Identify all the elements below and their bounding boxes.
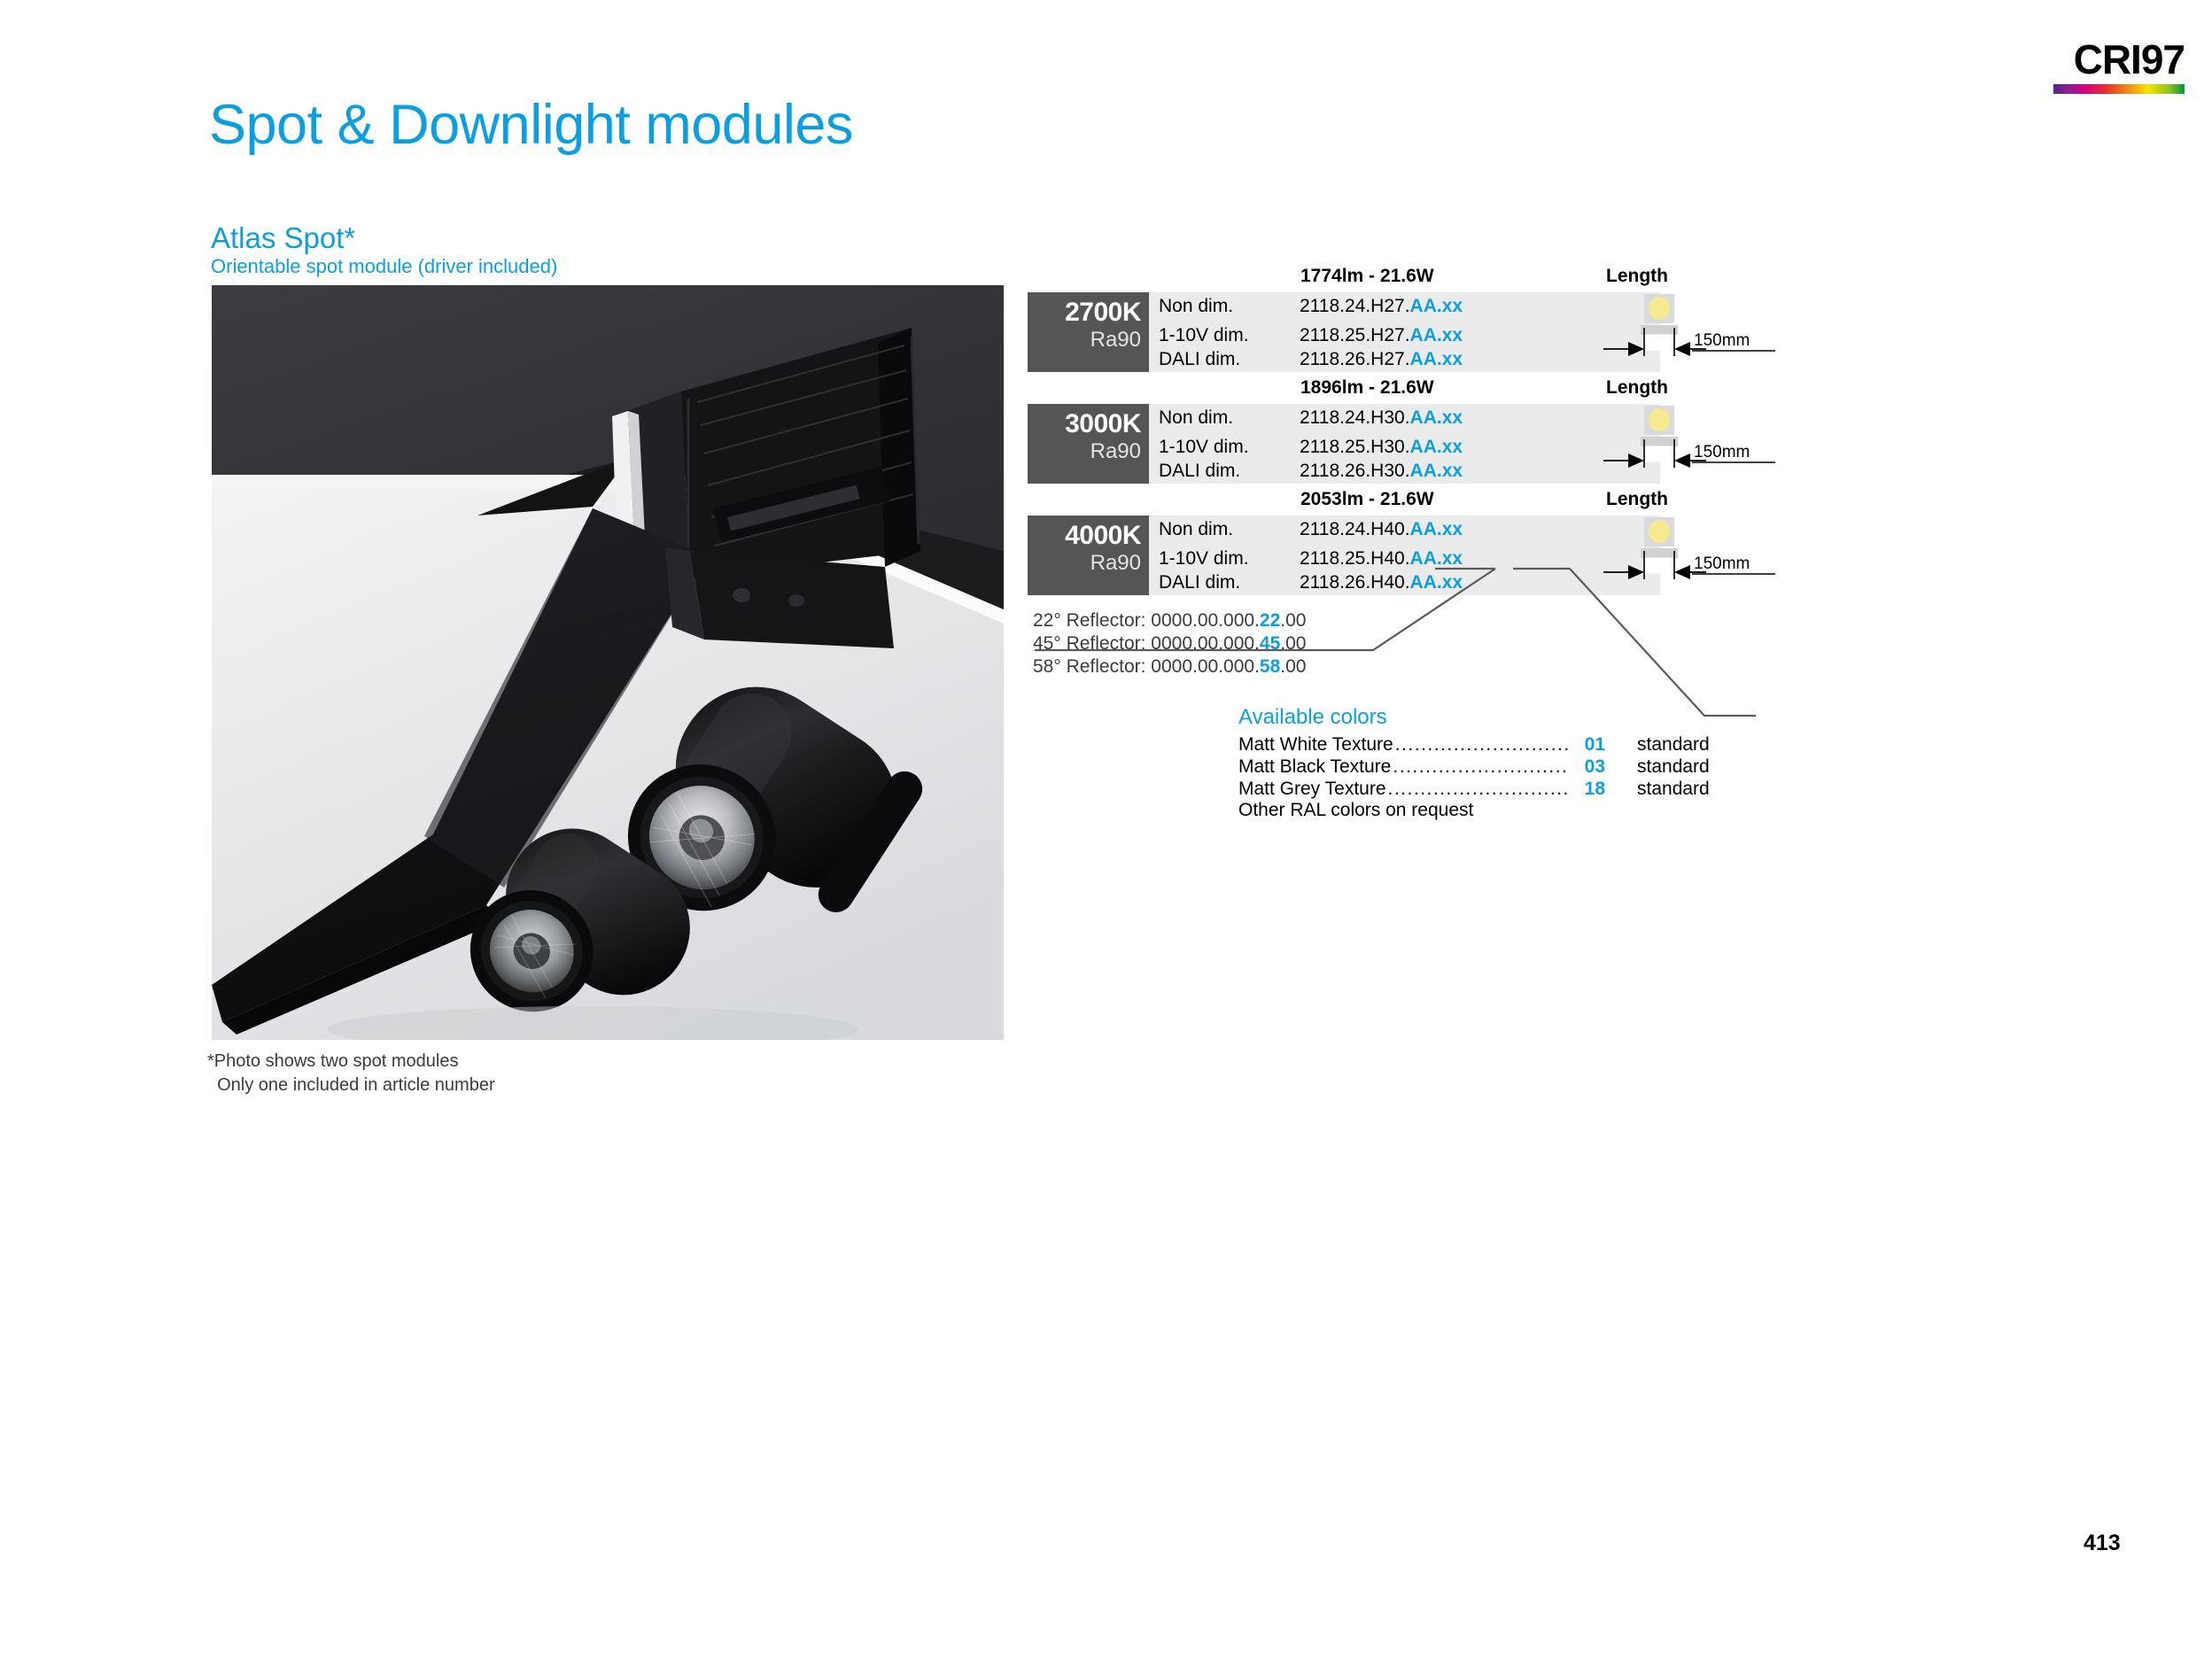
dimming-type: 1-10V dim. — [1159, 323, 1249, 347]
page-number: 413 — [2084, 1531, 2121, 1556]
article-base: 2118.25.H40. — [1300, 548, 1410, 569]
cri-ra-value: Ra90 — [1028, 439, 1141, 464]
article-number: 2118.25.H40.AA.xx — [1300, 547, 1463, 570]
length-value: 150mm — [1694, 331, 1750, 350]
article-base: 2118.24.H30. — [1300, 407, 1410, 428]
reflector-label: 22° Reflector: 0000.00.000. — [1033, 610, 1260, 631]
dimming-type: 1-10V dim. — [1159, 547, 1249, 570]
spec-block-3000k: 1896lm - 21.6W Length 3000K Ra90 Non dim… — [1028, 377, 2011, 484]
article-number: 2118.25.H30.AA.xx — [1300, 435, 1463, 459]
color-code: 03 — [1572, 756, 1605, 778]
table-row[interactable]: DALI dim. 2118.26.H27.AA.xx — [1149, 347, 1660, 371]
article-rows: Non dim. 2118.24.H27.AA.xx 1-10V dim. 21… — [1149, 292, 1660, 372]
spec-header: 1774lm - 21.6W Length — [1028, 266, 2011, 292]
cct-badge: 3000K Ra90 — [1028, 404, 1149, 484]
available-colors-title: Available colors — [1238, 705, 1387, 730]
section-subtitle: Orientable spot module (driver included) — [211, 255, 557, 278]
reflector-tail: .00 — [1280, 656, 1306, 677]
reflector-label: 58° Reflector: 0000.00.000. — [1033, 656, 1260, 677]
cri97-label: CRI97 — [2053, 39, 2185, 80]
table-row[interactable]: DALI dim. 2118.26.H40.AA.xx — [1149, 570, 1660, 594]
length-diagram: 150mm — [1602, 289, 1779, 374]
reflector-tail: .00 — [1280, 633, 1306, 654]
article-base: 2118.24.H40. — [1300, 519, 1410, 539]
color-name: Matt Grey Texture — [1238, 778, 1386, 800]
article-base: 2118.25.H27. — [1300, 325, 1410, 345]
product-photo — [212, 285, 1004, 1040]
color-status: standard — [1605, 756, 1735, 778]
article-variable-suffix: AA.xx — [1410, 572, 1463, 593]
article-number: 2118.24.H27.AA.xx — [1300, 292, 1463, 320]
lumens-wattage: 2053lm - 21.6W — [1300, 489, 1434, 510]
article-number: 2118.26.H30.AA.xx — [1300, 459, 1463, 483]
table-row[interactable]: 1-10V dim. 2118.25.H27.AA.xx — [1149, 323, 1660, 347]
table-row[interactable]: Non dim. 2118.24.H27.AA.xx — [1149, 292, 1660, 323]
length-header: Length — [1606, 489, 1668, 510]
cct-badge: 4000K Ra90 — [1028, 516, 1149, 595]
color-code: 01 — [1572, 733, 1605, 756]
length-diagram: 150mm — [1602, 512, 1779, 597]
color-name: Matt Black Texture — [1238, 756, 1391, 778]
article-number: 2118.24.H30.AA.xx — [1300, 404, 1463, 431]
color-code: 18 — [1572, 778, 1605, 800]
article-variable-suffix: AA.xx — [1410, 349, 1463, 369]
cri97-badge: CRI97 — [2053, 39, 2185, 94]
list-item[interactable]: Matt Black Texture .....................… — [1238, 756, 1735, 778]
article-variable-suffix: AA.xx — [1410, 519, 1463, 539]
dimming-type: DALI dim. — [1159, 459, 1240, 483]
article-base: 2118.24.H27. — [1300, 296, 1410, 316]
article-number: 2118.24.H40.AA.xx — [1300, 516, 1463, 543]
reflector-code: 45 — [1260, 633, 1280, 654]
article-base: 2118.26.H27. — [1300, 349, 1410, 369]
color-name: Matt White Texture — [1238, 733, 1393, 756]
dimming-type: DALI dim. — [1159, 570, 1240, 594]
spec-header: 1896lm - 21.6W Length — [1028, 377, 2011, 404]
article-variable-suffix: AA.xx — [1410, 407, 1463, 428]
dimming-type: Non dim. — [1159, 404, 1233, 431]
length-header: Length — [1606, 377, 1668, 399]
cct-badge: 2700K Ra90 — [1028, 292, 1149, 372]
reflector-code: 22 — [1260, 610, 1280, 631]
cct-value: 2700K — [1028, 298, 1141, 328]
table-row[interactable]: 1-10V dim. 2118.25.H40.AA.xx — [1149, 547, 1660, 570]
cri-ra-value: Ra90 — [1028, 551, 1141, 576]
dimming-type: 1-10V dim. — [1159, 435, 1249, 459]
spec-body: 3000K Ra90 Non dim. 2118.24.H30.AA.xx 1-… — [1028, 404, 2011, 484]
length-header: Length — [1606, 266, 1668, 287]
reflector-label: 45° Reflector: 0000.00.000. — [1033, 633, 1260, 654]
article-rows: Non dim. 2118.24.H30.AA.xx 1-10V dim. 21… — [1149, 404, 1660, 484]
article-rows: Non dim. 2118.24.H40.AA.xx 1-10V dim. 21… — [1149, 516, 1660, 595]
spec-block-2700k: 1774lm - 21.6W Length 2700K Ra90 Non dim… — [1028, 266, 2011, 372]
table-row[interactable]: DALI dim. 2118.26.H30.AA.xx — [1149, 459, 1660, 483]
list-item[interactable]: 45° Reflector: 0000.00.000.45.00 — [1033, 632, 1306, 655]
list-item[interactable]: Matt Grey Texture ......................… — [1238, 778, 1735, 800]
product-photo-illustration — [212, 285, 1004, 1040]
dot-leader: ........................................… — [1388, 778, 1570, 800]
article-base: 2118.26.H40. — [1300, 572, 1410, 593]
dimming-type: DALI dim. — [1159, 347, 1240, 371]
article-variable-suffix: AA.xx — [1410, 548, 1463, 569]
article-number: 2118.25.H27.AA.xx — [1300, 323, 1463, 347]
reflector-list: 22° Reflector: 0000.00.000.22.00 45° Ref… — [1033, 609, 1306, 678]
spec-block-4000k: 2053lm - 21.6W Length 4000K Ra90 Non dim… — [1028, 489, 2011, 595]
color-status: standard — [1605, 733, 1735, 756]
cri-ra-value: Ra90 — [1028, 328, 1141, 353]
article-base: 2118.25.H30. — [1300, 437, 1410, 457]
reflector-code: 58 — [1260, 656, 1280, 677]
article-number: 2118.26.H27.AA.xx — [1300, 347, 1463, 371]
length-value: 150mm — [1694, 443, 1750, 461]
cct-value: 3000K — [1028, 409, 1141, 439]
article-variable-suffix: AA.xx — [1410, 461, 1463, 481]
length-diagram: 150mm — [1602, 400, 1779, 485]
dimming-type: Non dim. — [1159, 292, 1233, 320]
list-item[interactable]: Matt White Texture .....................… — [1238, 733, 1735, 756]
colors-note: Other RAL colors on request — [1238, 800, 1473, 821]
lumens-wattage: 1896lm - 21.6W — [1300, 377, 1434, 399]
table-row[interactable]: 1-10V dim. 2118.25.H30.AA.xx — [1149, 435, 1660, 459]
list-item[interactable]: 22° Reflector: 0000.00.000.22.00 — [1033, 609, 1306, 632]
table-row[interactable]: Non dim. 2118.24.H40.AA.xx — [1149, 516, 1660, 547]
available-colors-list: Matt White Texture .....................… — [1238, 733, 1735, 800]
length-value: 150mm — [1694, 554, 1750, 573]
color-status: standard — [1605, 778, 1735, 800]
list-item[interactable]: 58° Reflector: 0000.00.000.58.00 — [1033, 655, 1306, 678]
section-title: Atlas Spot* — [211, 221, 355, 255]
color-spectrum-bar — [2053, 84, 2185, 94]
cct-value: 4000K — [1028, 521, 1141, 551]
table-row[interactable]: Non dim. 2118.24.H30.AA.xx — [1149, 404, 1660, 435]
page-title: Spot & Downlight modules — [209, 93, 853, 157]
reflector-tail: .00 — [1280, 610, 1306, 631]
spec-header: 2053lm - 21.6W Length — [1028, 489, 2011, 516]
spec-body: 4000K Ra90 Non dim. 2118.24.H40.AA.xx 1-… — [1028, 516, 2011, 595]
dot-leader: ........................................… — [1393, 756, 1570, 778]
article-variable-suffix: AA.xx — [1410, 296, 1463, 316]
article-variable-suffix: AA.xx — [1410, 325, 1463, 345]
article-number: 2118.26.H40.AA.xx — [1300, 570, 1463, 594]
photo-footnote: *Photo shows two spot modules Only one i… — [207, 1050, 495, 1097]
article-variable-suffix: AA.xx — [1410, 437, 1463, 457]
article-base: 2118.26.H30. — [1300, 461, 1410, 481]
dot-leader: ........................................… — [1395, 733, 1570, 756]
spec-body: 2700K Ra90 Non dim. 2118.24.H27.AA.xx 1-… — [1028, 292, 2011, 372]
dimming-type: Non dim. — [1159, 516, 1233, 543]
lumens-wattage: 1774lm - 21.6W — [1300, 266, 1434, 287]
